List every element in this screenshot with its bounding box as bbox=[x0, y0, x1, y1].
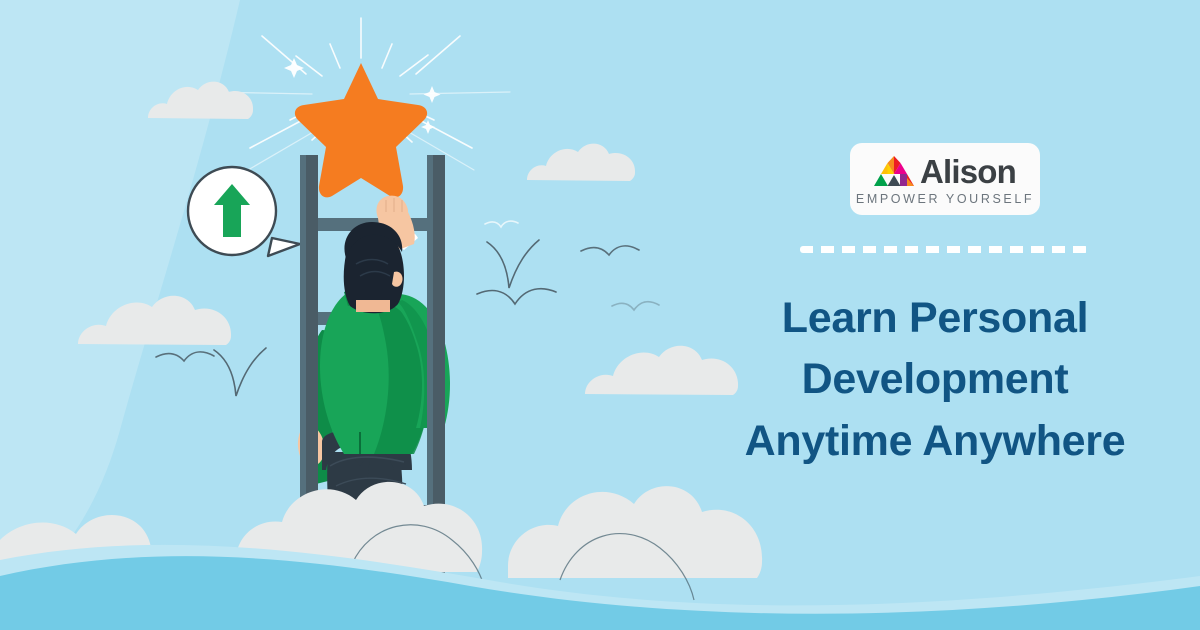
alison-logo-badge[interactable]: Alison EMPOWER YOURSELF bbox=[850, 143, 1040, 215]
alison-triangle-a-logo-icon bbox=[874, 156, 914, 186]
headline-line-1: Learn Personal bbox=[700, 288, 1170, 349]
neck bbox=[356, 300, 390, 312]
promo-banner: Alison EMPOWER YOURSELF Learn Personal D… bbox=[0, 0, 1200, 630]
logo-row: Alison bbox=[874, 154, 1016, 188]
headline-line-2: Development bbox=[700, 349, 1170, 410]
dashed-divider bbox=[800, 246, 1088, 253]
logo-wordmark: Alison bbox=[920, 155, 1016, 188]
logo-tagline: EMPOWER YOURSELF bbox=[856, 193, 1034, 206]
dashed-divider-line bbox=[800, 246, 1088, 253]
headline: Learn Personal Development Anytime Anywh… bbox=[700, 288, 1170, 472]
headline-line-3: Anytime Anywhere bbox=[700, 411, 1170, 472]
